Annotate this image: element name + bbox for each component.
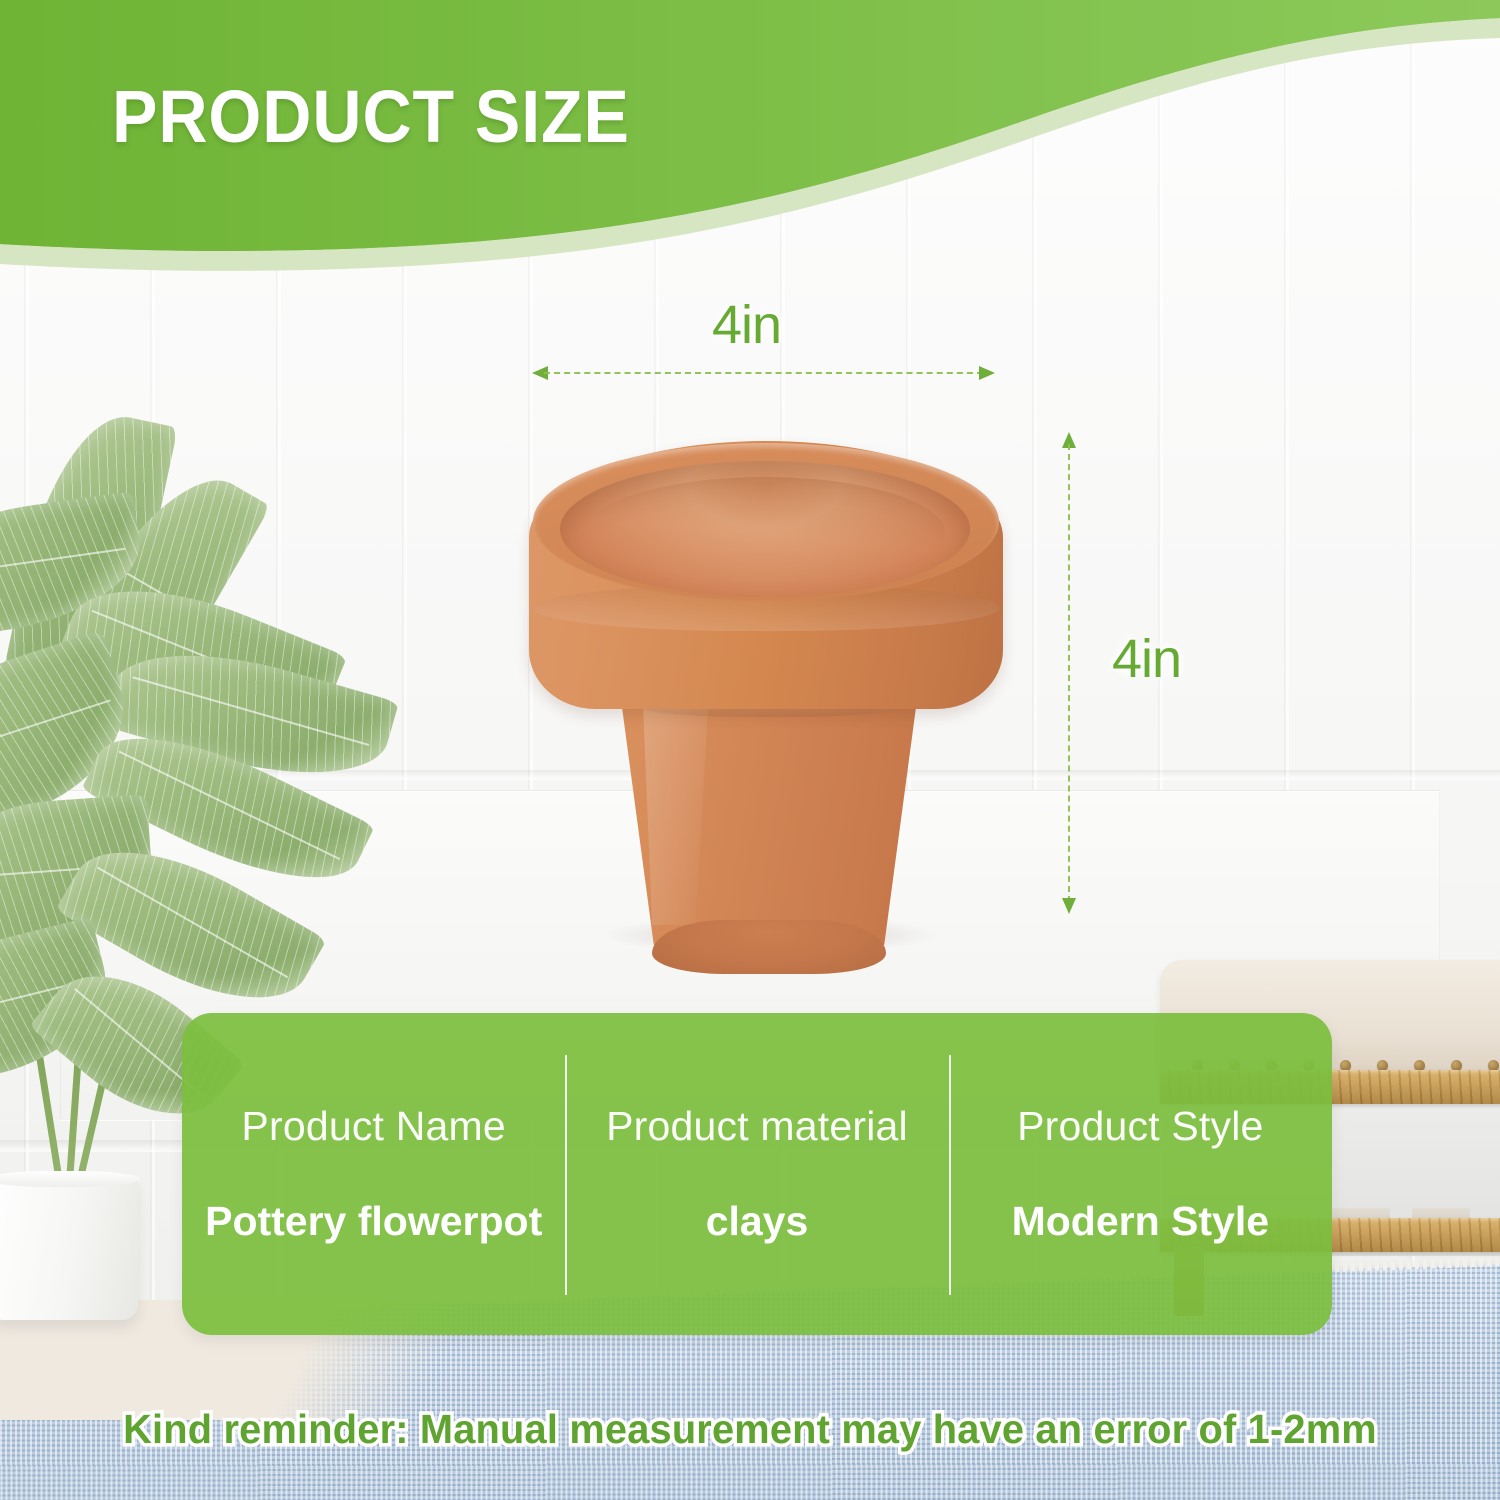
- spec-header: Product Style: [1017, 1103, 1263, 1150]
- nailhead-icon: [1414, 1060, 1425, 1071]
- spec-column-product-style: Product Style Modern Style: [949, 1013, 1332, 1335]
- spec-column-product-name: Product Name Pottery flowerpot: [182, 1013, 565, 1335]
- spec-column-product-material: Product material clays: [565, 1013, 948, 1335]
- page-title: PRODUCT SIZE: [112, 74, 630, 159]
- arrow-right-icon: [979, 366, 995, 380]
- spec-table-panel: Product Name Pottery flowerpot Product m…: [182, 1013, 1332, 1335]
- spec-value: clays: [706, 1198, 809, 1245]
- nailhead-icon: [1488, 1060, 1499, 1071]
- spec-table-grid: Product Name Pottery flowerpot Product m…: [182, 1013, 1332, 1335]
- terracotta-flowerpot-product: [505, 415, 1025, 970]
- dashed-line: [544, 372, 983, 374]
- width-dimension-label: 4in: [712, 294, 781, 356]
- width-dimension-line: [532, 372, 995, 375]
- header-banner: PRODUCT SIZE: [0, 0, 1500, 300]
- kind-reminder-text: Kind reminder: Manual measurement may ha…: [23, 1406, 1478, 1453]
- spec-value: Modern Style: [1012, 1198, 1269, 1245]
- pot-base: [652, 920, 886, 974]
- arrow-down-icon: [1062, 898, 1076, 914]
- spec-value: Pottery flowerpot: [205, 1198, 542, 1245]
- spec-header: Product Name: [241, 1103, 505, 1150]
- nailhead-icon: [1377, 1060, 1388, 1071]
- height-dimension-label: 4in: [1112, 628, 1181, 690]
- plant-white-pot: [0, 1175, 138, 1320]
- pot-inner-shadow: [585, 477, 945, 589]
- spec-header: Product material: [606, 1103, 908, 1150]
- product-size-infographic: 4in 4in PRODUCT SIZE Product Name Potter…: [0, 0, 1500, 1500]
- height-dimension-line: [1068, 432, 1071, 914]
- nailhead-icon: [1340, 1060, 1351, 1071]
- dashed-line: [1068, 444, 1070, 902]
- nailhead-icon: [1451, 1060, 1462, 1071]
